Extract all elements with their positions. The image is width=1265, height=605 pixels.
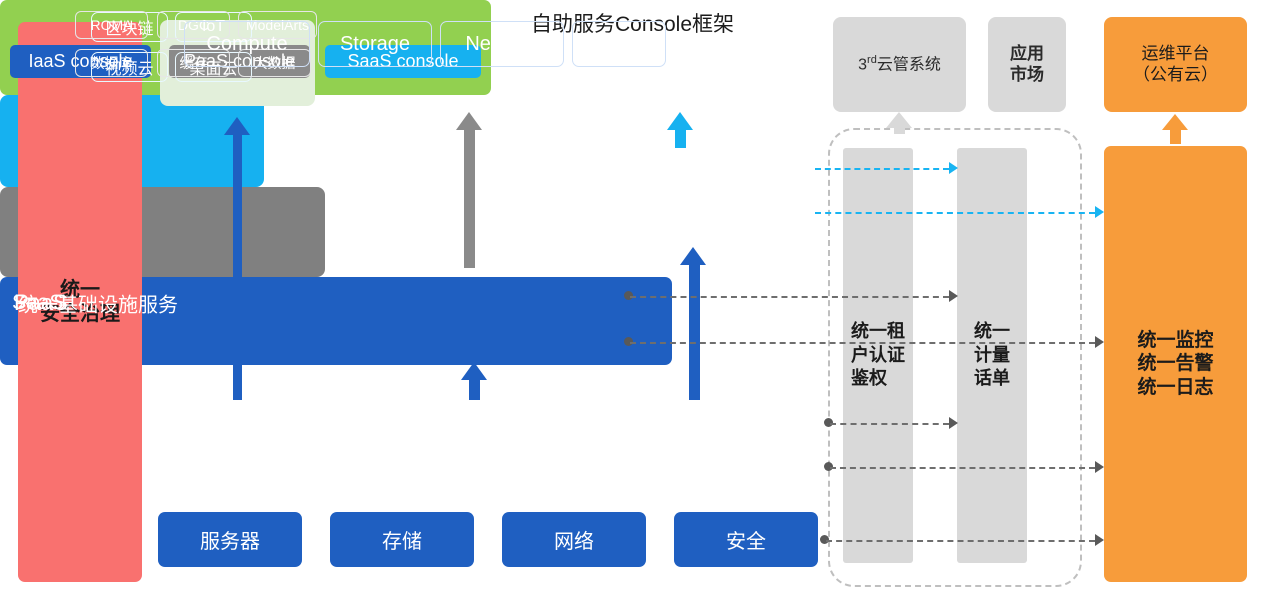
tenant-auth-line2: 户认证 (851, 344, 905, 367)
ops-monitoring-panel: 统一监控 统一告警 统一日志 (1104, 146, 1247, 582)
metering-line2: 计量 (974, 344, 1010, 367)
infra-service-cce[interactable]: CCE (572, 21, 666, 67)
tenant-auth-line3: 鉴权 (851, 367, 905, 390)
shared-column-tenant-auth: 统一租 户认证 鉴权 (843, 148, 913, 563)
shared-column-metering-billing: 统一 计量 话单 (957, 148, 1027, 563)
infrastructure-layer-label: 统一基础设施服务 (18, 288, 178, 317)
app-market-line2: 市场 (1010, 65, 1044, 86)
infra-service-network[interactable]: Network (440, 21, 564, 67)
infra-service-storage[interactable]: Storage (318, 21, 432, 67)
hardware-server-box[interactable]: 服务器 (158, 512, 302, 567)
hardware-storage-box[interactable]: 存储 (330, 512, 474, 567)
ops-platform-line1: 运维平台 (1133, 44, 1218, 65)
app-market-line1: 应用 (1010, 44, 1044, 65)
architecture-diagram: 统一 安全治理 API网关 自助服务Console框架 IaaS console… (0, 0, 1265, 605)
hardware-network-box[interactable]: 网络 (502, 512, 646, 567)
ops-panel-line2: 统一告警 (1137, 352, 1213, 375)
ops-platform-box: 运维平台 （公有云） (1104, 17, 1247, 112)
ops-panel-line1: 统一监控 (1137, 329, 1213, 352)
metering-line1: 统一 (974, 320, 1010, 343)
infra-service-compute[interactable]: Compute (184, 21, 310, 67)
tenant-auth-line1: 统一租 (851, 320, 905, 343)
metering-line3: 话单 (974, 367, 1010, 390)
ops-panel-line3: 统一日志 (1137, 376, 1213, 399)
hardware-security-box[interactable]: 安全 (674, 512, 818, 567)
ops-platform-line2: （公有云） (1133, 65, 1218, 86)
paas-service-roma[interactable]: ROMA (75, 11, 148, 39)
third-party-cloud-mgmt-box: 3rd云管系统 (833, 17, 966, 112)
app-market-box: 应用 市场 (988, 17, 1066, 112)
third-party-label: 3rd云管系统 (858, 54, 941, 75)
paas-service-database[interactable]: 数据库 (75, 49, 148, 77)
